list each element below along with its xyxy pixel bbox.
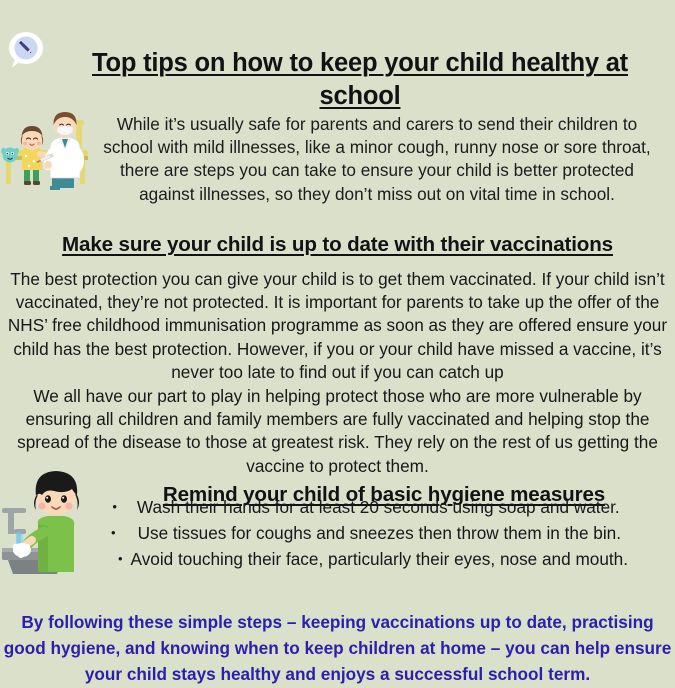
pencil-edit-icon[interactable] xyxy=(6,30,46,70)
list-item-label: Use tissues for coughs and sneezes then … xyxy=(138,523,621,543)
list-item: •Wash their hands for at least 20 second… xyxy=(98,494,668,520)
closing-statement: By following these simple steps – keepin… xyxy=(0,610,675,688)
community-protection-paragraph: We all have our part to play in helping … xyxy=(0,385,675,478)
list-item-label: Wash their hands for at least 20 seconds… xyxy=(137,497,620,517)
bullet-icon: • xyxy=(111,526,116,539)
poster-page: Top tips on how to keep your child healt… xyxy=(0,0,675,675)
doctor-vaccinating-child-illustration xyxy=(0,98,92,190)
vaccination-paragraph: The best protection you can give your ch… xyxy=(0,268,675,384)
bullet-icon: • xyxy=(118,552,123,565)
child-washing-hands-illustration xyxy=(2,462,100,574)
bullet-icon: • xyxy=(112,500,117,513)
vaccination-heading: Make sure your child is up to date with … xyxy=(0,233,675,257)
list-item: •Use tissues for coughs and sneezes then… xyxy=(98,520,668,546)
page-title: Top tips on how to keep your child healt… xyxy=(56,47,664,113)
hygiene-bullet-list: •Wash their hands for at least 20 second… xyxy=(98,494,668,572)
list-item: •Avoid touching their face, particularly… xyxy=(98,546,668,572)
intro-paragraph: While it’s usually safe for parents and … xyxy=(92,113,662,206)
list-item-label: Avoid touching their face, particularly … xyxy=(131,549,628,569)
